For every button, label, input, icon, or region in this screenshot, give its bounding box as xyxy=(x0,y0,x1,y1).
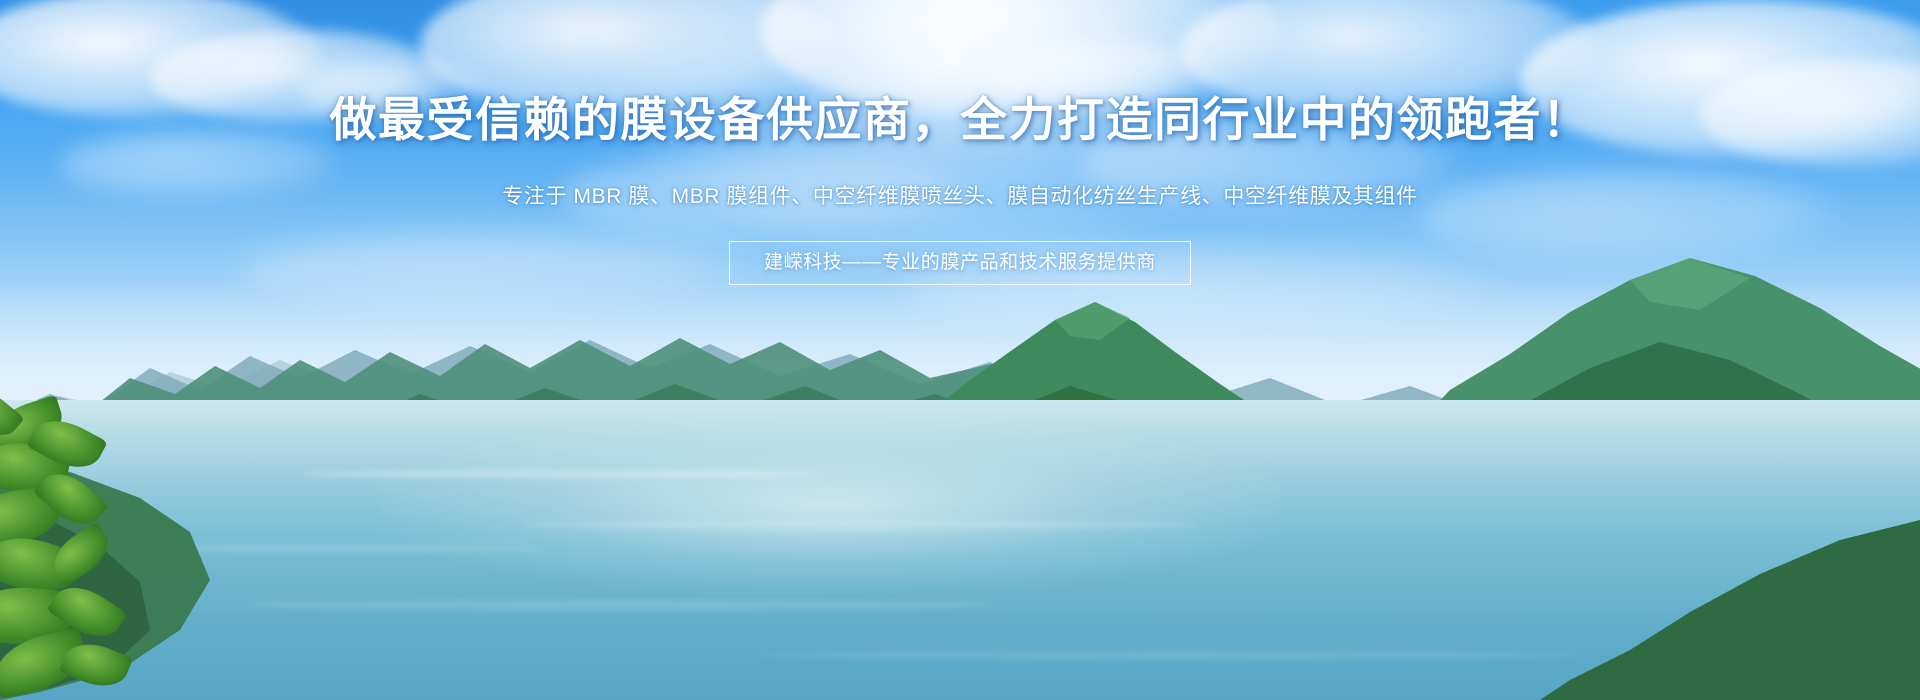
banner-subtitle: 专注于 MBR 膜、MBR 膜组件、中空纤维膜喷丝头、膜自动化纺丝生产线、中空纤… xyxy=(0,186,1920,207)
banner-tagline-container: 建嵘科技——专业的膜产品和技术服务提供商 xyxy=(0,241,1920,285)
banner-headline: 做最受信赖的膜设备供应商，全力打造同行业中的领跑者！ xyxy=(0,96,1920,143)
banner-tagline: 建嵘科技——专业的膜产品和技术服务提供商 xyxy=(729,241,1191,285)
banner-text-layer: 做最受信赖的膜设备供应商，全力打造同行业中的领跑者！ 专注于 MBR 膜、MBR… xyxy=(0,0,1920,700)
hero-banner: 做最受信赖的膜设备供应商，全力打造同行业中的领跑者！ 专注于 MBR 膜、MBR… xyxy=(0,0,1920,700)
